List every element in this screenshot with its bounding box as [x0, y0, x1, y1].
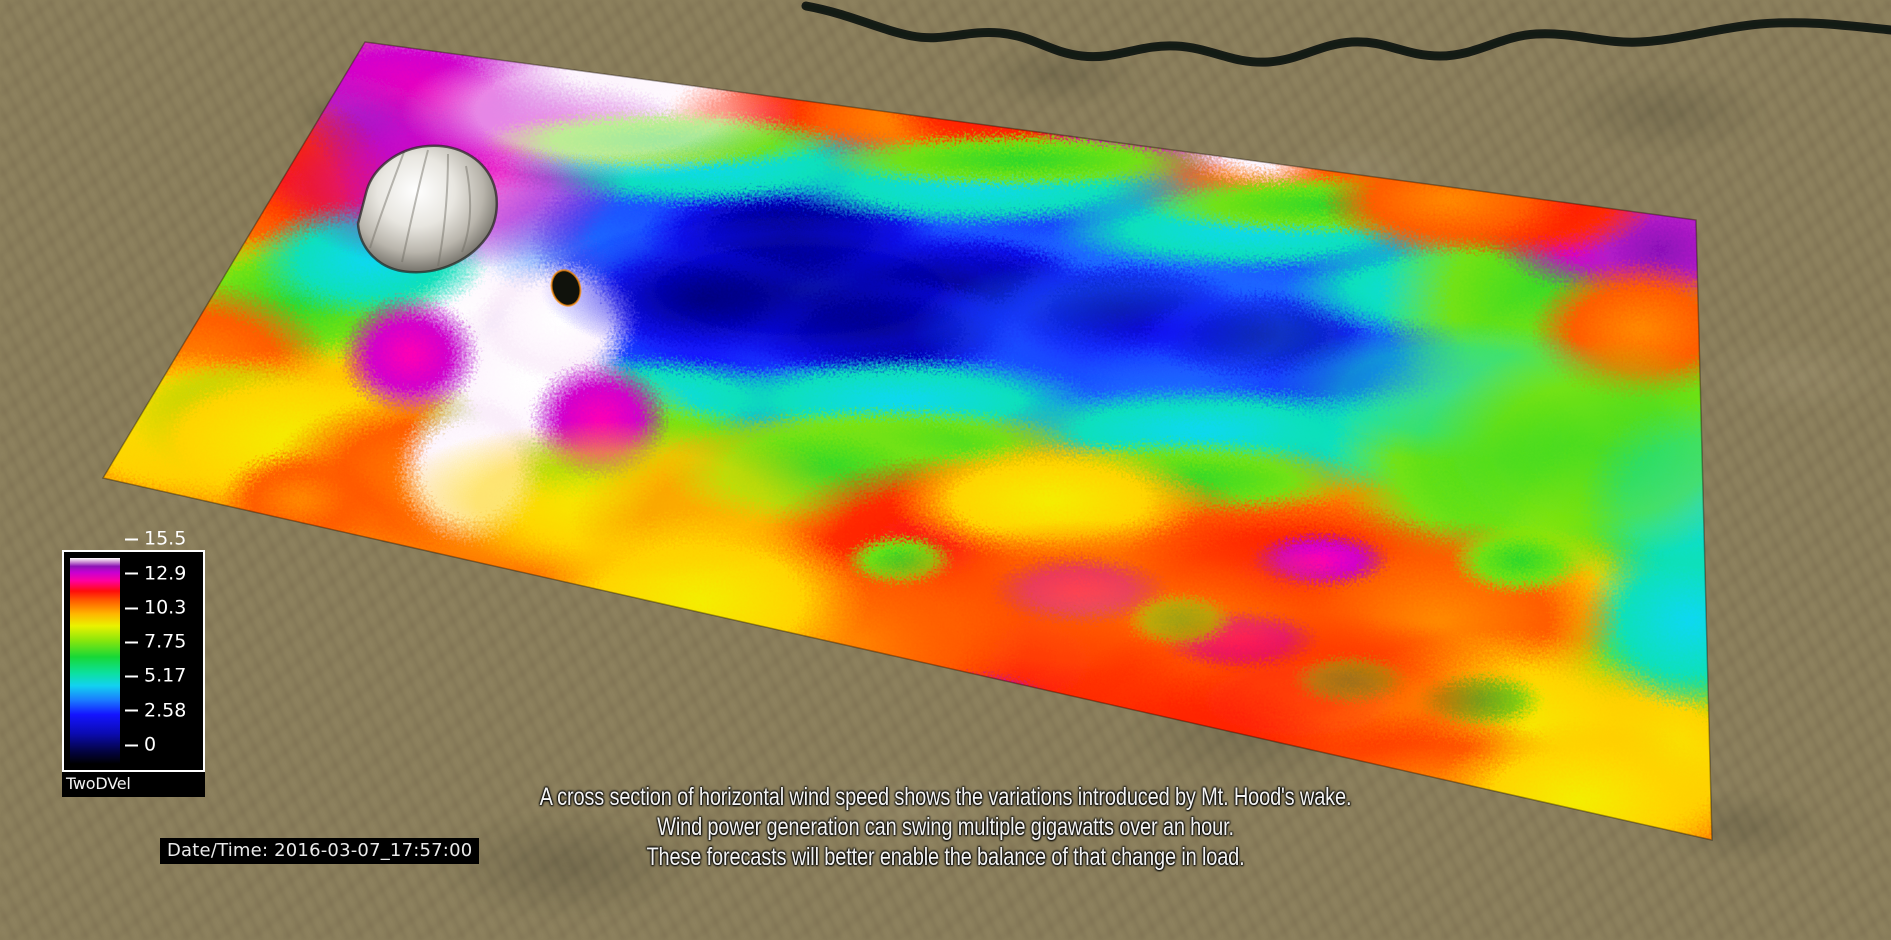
- colorbar-tick-dash-icon: [125, 710, 138, 712]
- colorbar-tick-dash-icon: [125, 538, 138, 540]
- colorbar-tick-label: 15.5: [144, 530, 186, 549]
- colorbar-tick-dash-icon: [125, 641, 138, 643]
- colorbar-tick-label: 10.3: [144, 599, 186, 618]
- colorbar-tick: 2.58: [120, 701, 186, 720]
- colorbar-tick-label: 12.9: [144, 564, 186, 583]
- colorbar-tick-label: 2.58: [144, 701, 186, 720]
- colorbar-tick: 15.5: [120, 530, 186, 549]
- colorbar-tick: 0: [120, 736, 156, 755]
- colorbar-tick-list: 15.512.910.37.755.172.580: [120, 558, 198, 764]
- cross-section-field: [0, 0, 1891, 940]
- datetime-badge: Date/Time: 2016-03-07_17:57:00: [160, 838, 479, 864]
- colorbar-tick: 10.3: [120, 599, 186, 618]
- colorbar-tick-dash-icon: [125, 744, 138, 746]
- visualization-stage: 15.512.910.37.755.172.580 TwoDVel Date/T…: [0, 0, 1891, 940]
- colorbar-box: 15.512.910.37.755.172.580: [62, 550, 205, 772]
- colorbar-tick-label: 7.75: [144, 633, 186, 652]
- colorbar-legend[interactable]: 15.512.910.37.755.172.580 TwoDVel: [62, 550, 205, 797]
- wind-speed-cross-section-plane: [0, 0, 1891, 940]
- colorbar-tick: 7.75: [120, 633, 186, 652]
- colorbar-tick-dash-icon: [125, 675, 138, 677]
- colorbar-tick: 5.17: [120, 667, 186, 686]
- colorbar-tick-label: 5.17: [144, 667, 186, 686]
- colorbar-tick: 12.9: [120, 564, 186, 583]
- colorbar-tick-dash-icon: [125, 607, 138, 609]
- colorbar-gradient: [70, 558, 120, 764]
- colorbar-tick-label: 0: [144, 736, 156, 755]
- colorbar-tick-dash-icon: [125, 573, 138, 575]
- colorbar-title: TwoDVel: [62, 772, 205, 797]
